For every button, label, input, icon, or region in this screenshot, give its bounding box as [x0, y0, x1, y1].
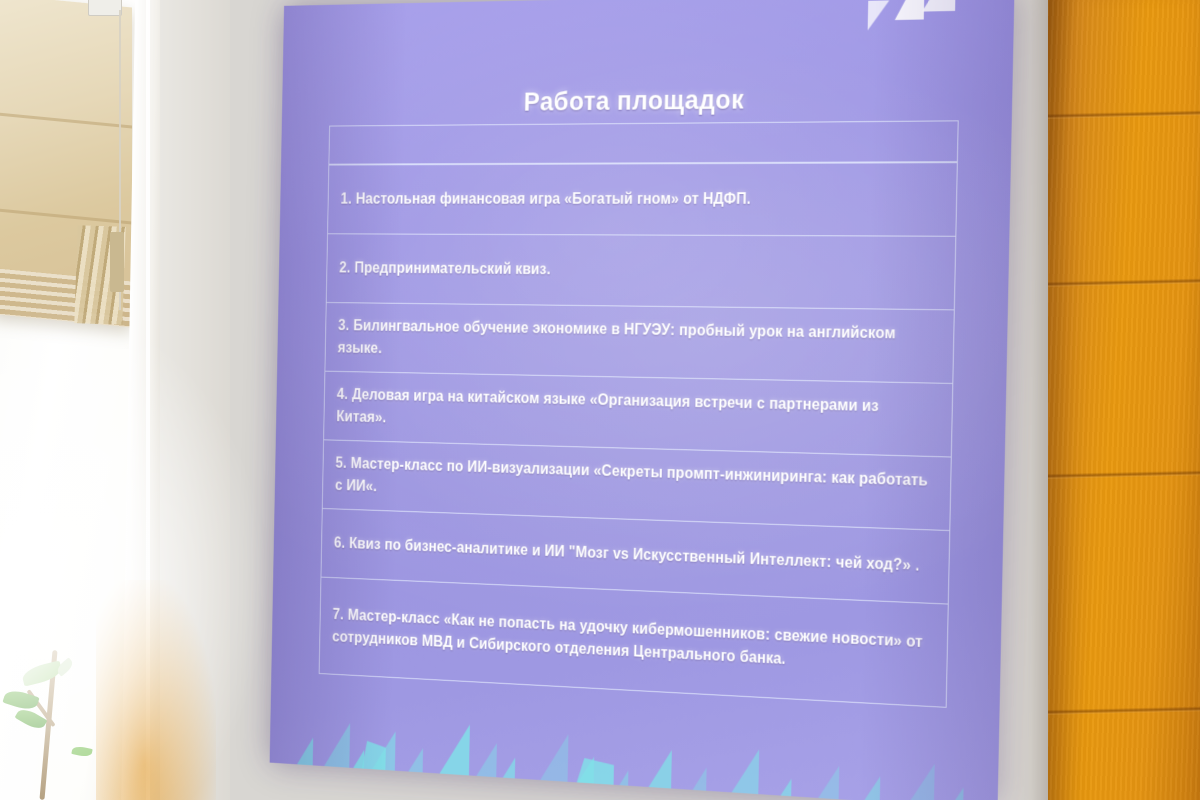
triangle-shape: [538, 732, 569, 785]
slide-title: Работа площадок: [282, 82, 1013, 120]
table-row: 2. Предпринимательский квиз.: [327, 234, 956, 310]
agenda-item-text: 6. Квиз по бизнес-аналитике и ИИ "Мозг v…: [334, 532, 920, 577]
projected-slide: Работа площадок 1. Настольная финансовая…: [270, 0, 1015, 800]
triangle-shape: [295, 736, 313, 769]
decorative-shard-icon: [895, 0, 925, 20]
agenda-item-text: 2. Предпринимательский квиз.: [339, 257, 551, 281]
agenda-item-text: 5. Мастер-класс по ИИ-визуализации «Секр…: [335, 453, 937, 517]
agenda-table: 1. Настольная финансовая игра «Богатый г…: [319, 120, 959, 708]
decorative-shard-icon: [868, 0, 890, 30]
triangle-shape: [906, 762, 935, 800]
table-row: 3. Билингвальное обучение экономике в НГ…: [325, 303, 953, 384]
triangle-shape: [322, 721, 350, 771]
triangle-shape: [646, 748, 672, 792]
orange-fabric-panel: [1048, 0, 1200, 800]
table-row: 1. Настольная финансовая игра «Богатый г…: [328, 163, 957, 237]
triangle-shape: [729, 748, 759, 798]
plant-leaf: [71, 745, 92, 758]
presentation-room-photo: Работа площадок 1. Настольная финансовая…: [0, 0, 1200, 800]
triangle-shape: [474, 742, 497, 781]
triangle-shape: [437, 723, 470, 780]
projection-screen: Работа площадок 1. Настольная финансовая…: [270, 0, 1015, 800]
plant-leaf: [21, 660, 64, 686]
triangle-shape: [816, 765, 840, 800]
agenda-item-text: 1. Настольная финансовая игра «Богатый г…: [340, 188, 751, 211]
blind-bracket: [88, 0, 122, 16]
agenda-item-text: 7. Мастер-класс «Как не попасть на удочк…: [332, 604, 934, 678]
table-header-row: [329, 121, 957, 165]
decorative-shard-icon: [922, 0, 956, 12]
agenda-item-text: 4. Деловая игра на китайском языке «Орга…: [336, 384, 938, 443]
blind-clip: [110, 232, 124, 292]
fabric-texture: [1048, 0, 1200, 800]
plant: [10, 610, 160, 800]
triangle-shape: [861, 775, 880, 800]
agenda-item-text: 3. Билингвальное обучение экономике в НГ…: [338, 315, 940, 369]
triangle-shape: [948, 787, 963, 800]
